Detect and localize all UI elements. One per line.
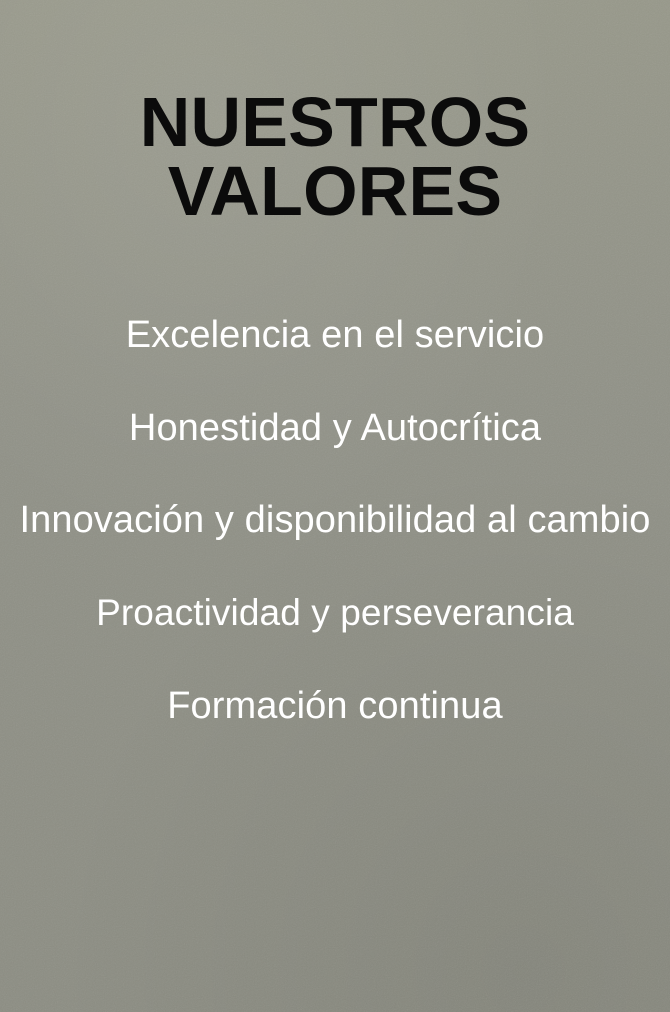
list-item: Excelencia en el servicio (0, 310, 670, 361)
list-item: Formación continua (0, 681, 670, 732)
list-item: Innovación y disponibilidad al cambio (0, 495, 670, 546)
values-poster: NUESTROS VALORES Excelencia en el servic… (0, 0, 670, 1012)
page-title: NUESTROS VALORES (0, 88, 670, 225)
title-line-1: NUESTROS (0, 88, 670, 157)
list-item: Proactividad y perseverancia (0, 588, 670, 637)
list-item: Honestidad y Autocrítica (0, 403, 670, 454)
title-line-2: VALORES (0, 157, 670, 226)
values-list: Excelencia en el servicio Honestidad y A… (0, 300, 670, 731)
